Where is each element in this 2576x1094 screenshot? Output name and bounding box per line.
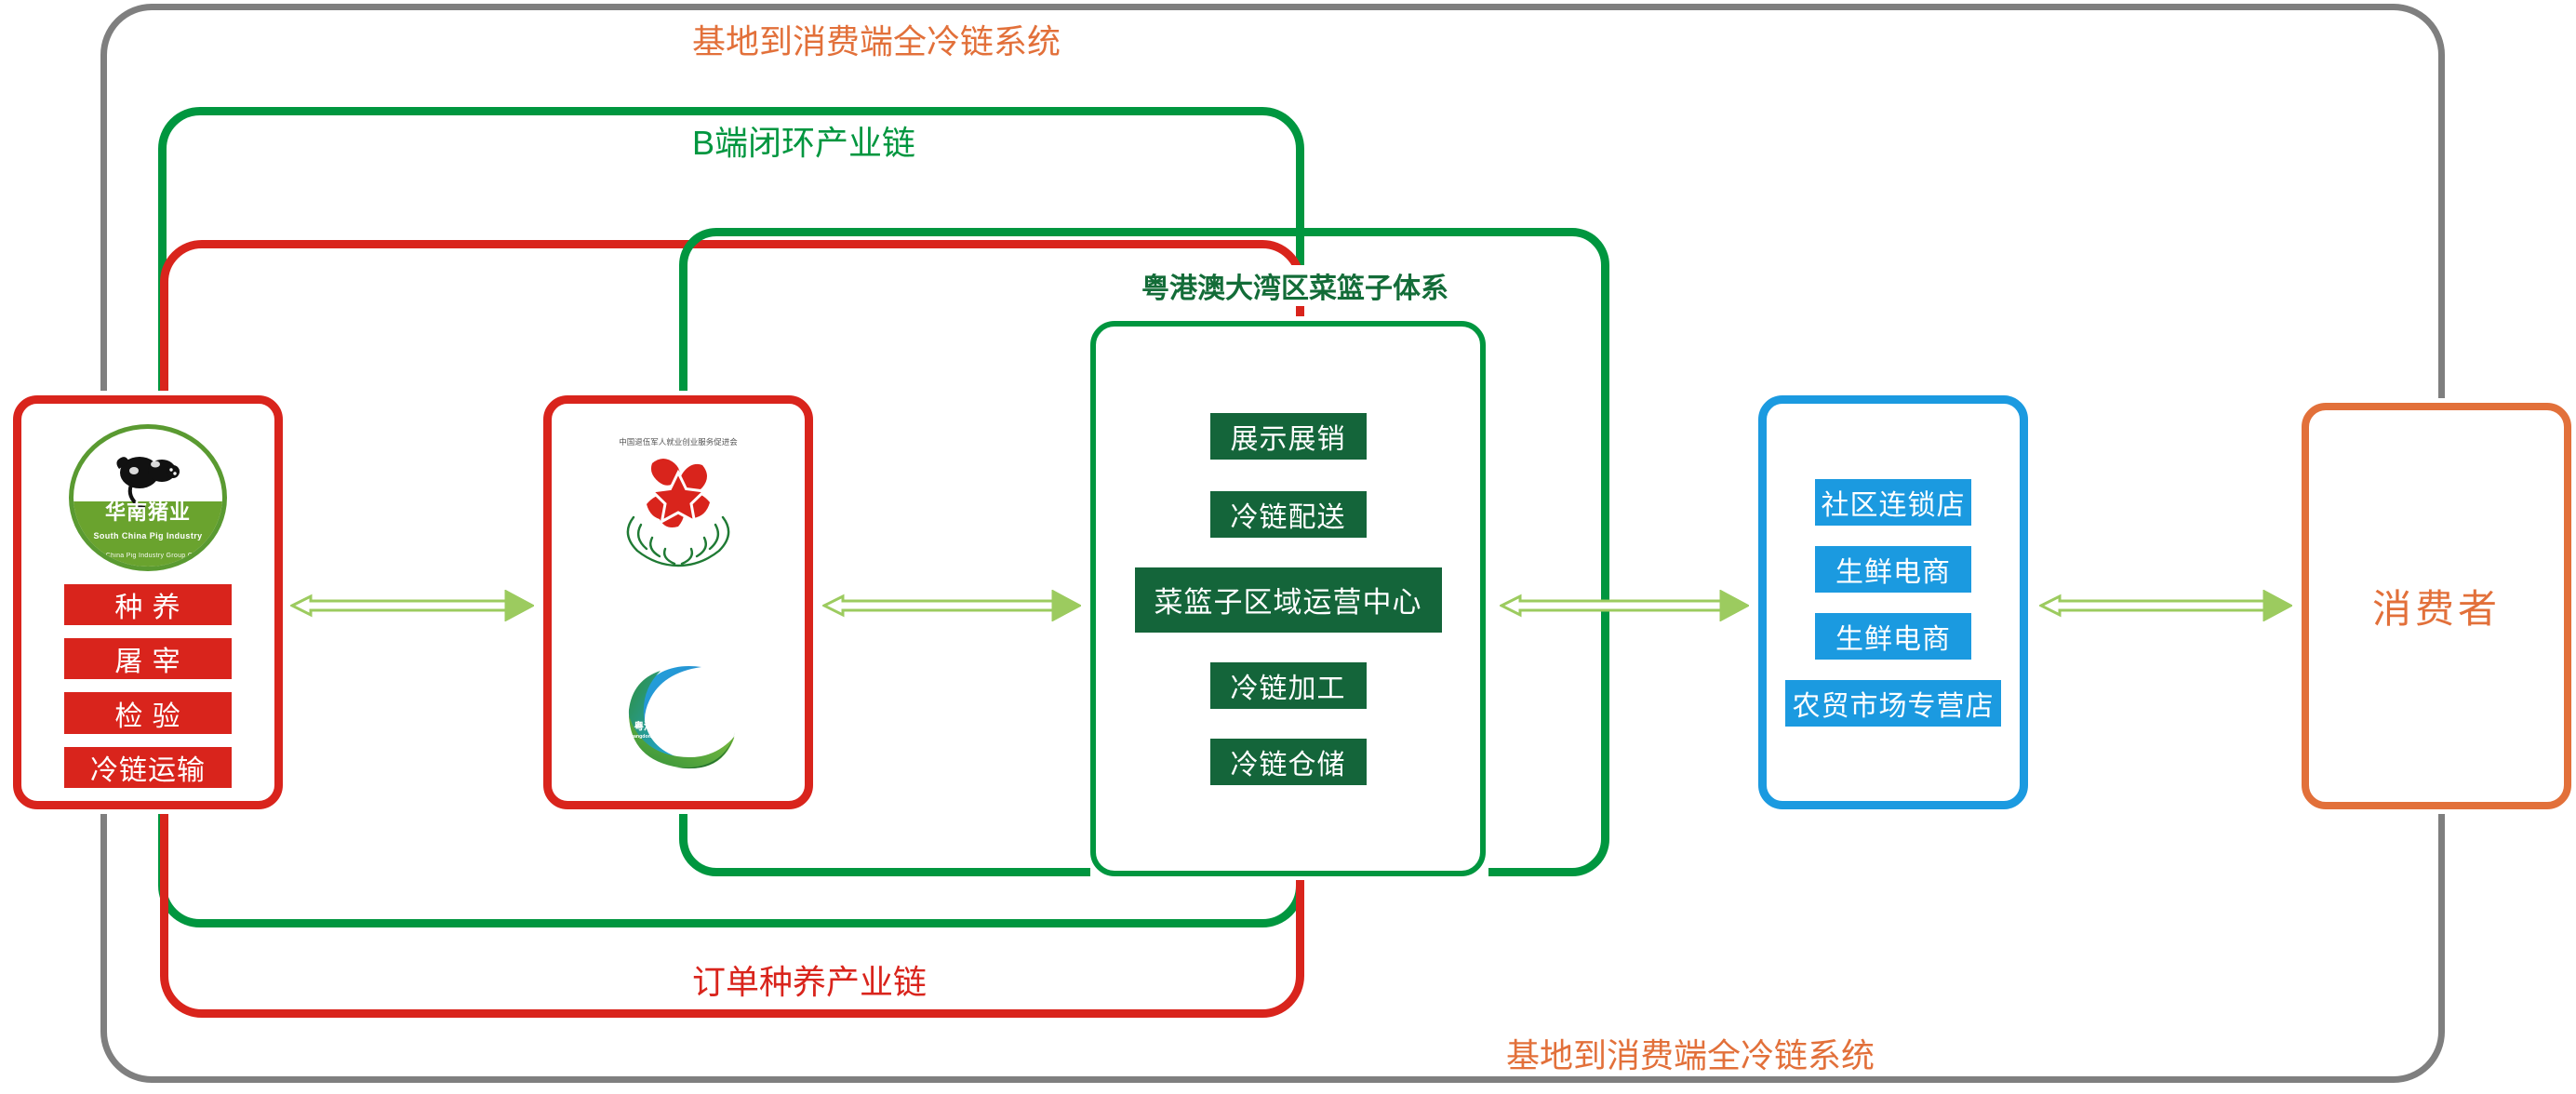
label-vegetable-basket-system: 粤港澳大湾区菜篮子体系 xyxy=(1127,265,1463,306)
tag-community-chain-store[interactable]: 社区连锁店 xyxy=(1815,479,1971,526)
greater-bay-vegetable-basket-logo-icon: 粤港澳大湾区“菜篮子” Guangdong-Hong Kong-Macao Gr… xyxy=(608,648,748,779)
tag-fresh-ecommerce-2[interactable]: 生鲜电商 xyxy=(1815,613,1971,660)
logo-arc-text: South China Pig Industry Group Co.,Ltd xyxy=(73,553,222,559)
label-full-cold-chain-bottom: 基地到消费端全冷链系统 xyxy=(1493,1036,1888,1074)
tag-cold-chain-transport[interactable]: 冷链运输 xyxy=(64,747,232,788)
logo-english-name: South China Pig Industry xyxy=(73,531,222,540)
tag-cold-chain-processing[interactable]: 冷链加工 xyxy=(1210,662,1367,709)
tag-slaughter[interactable]: 屠 宰 xyxy=(64,638,232,679)
cai-logo-en: Guangdong-Hong Kong-Macao Greater Bay Ar… xyxy=(627,734,739,740)
diagram-canvas: 基地到消费端全冷链系统 B端闭环产业链 订单种养产业链 基地到消费端全冷链系统 … xyxy=(0,0,2576,1094)
card-consumer[interactable]: 消费者 xyxy=(2302,403,2571,809)
veteran-association-emblem-icon: 中国退伍军人就业创业服务促进会 xyxy=(604,432,753,571)
logo-chinese-name: 华南猪业 xyxy=(73,496,222,526)
group-vegetable-basket-tags: 展示展销 冷链配送 菜篮子区域运营中心 冷链加工 冷链仓储 xyxy=(1090,321,1486,876)
arrow-cert-to-cai xyxy=(822,590,1081,621)
tag-cold-chain-storage[interactable]: 冷链仓储 xyxy=(1210,739,1367,785)
cai-logo-cn: 粤港澳大湾区“菜篮子” xyxy=(634,720,732,732)
card-retail-channels[interactable]: 社区连锁店 生鲜电商 生鲜电商 农贸市场专营店 xyxy=(1758,395,2028,809)
arrow-cai-to-retail xyxy=(1500,590,1749,621)
card-certifications[interactable]: 中国退伍军人就业创业服务促进会 xyxy=(543,395,813,809)
arrow-base-to-cert xyxy=(290,590,534,621)
tag-wet-market-store[interactable]: 农贸市场专营店 xyxy=(1785,680,2001,727)
label-consumer: 消费者 xyxy=(2372,578,2501,634)
label-b-end-closed-loop: B端闭环产业链 xyxy=(679,124,928,162)
emblem-arc-text: 中国退伍军人就业创业服务促进会 xyxy=(619,437,738,447)
tag-exhibition-sales[interactable]: 展示展销 xyxy=(1210,413,1367,460)
arrow-retail-to-consumer xyxy=(2039,590,2292,621)
label-full-cold-chain-top: 基地到消费端全冷链系统 xyxy=(679,22,1074,60)
tag-cold-chain-delivery[interactable]: 冷链配送 xyxy=(1210,491,1367,538)
south-china-pig-logo: 华南猪业 South China Pig Industry South Chin… xyxy=(69,424,227,571)
tag-fresh-ecommerce-1[interactable]: 生鲜电商 xyxy=(1815,546,1971,593)
tag-regional-operation-center[interactable]: 菜篮子区域运营中心 xyxy=(1135,567,1442,633)
label-order-farming-chain: 订单种养产业链 xyxy=(679,963,940,1001)
tag-breeding[interactable]: 种 养 xyxy=(64,584,232,625)
tag-inspection[interactable]: 检 验 xyxy=(64,692,232,733)
card-base-production[interactable]: 华南猪业 South China Pig Industry South Chin… xyxy=(13,395,283,809)
